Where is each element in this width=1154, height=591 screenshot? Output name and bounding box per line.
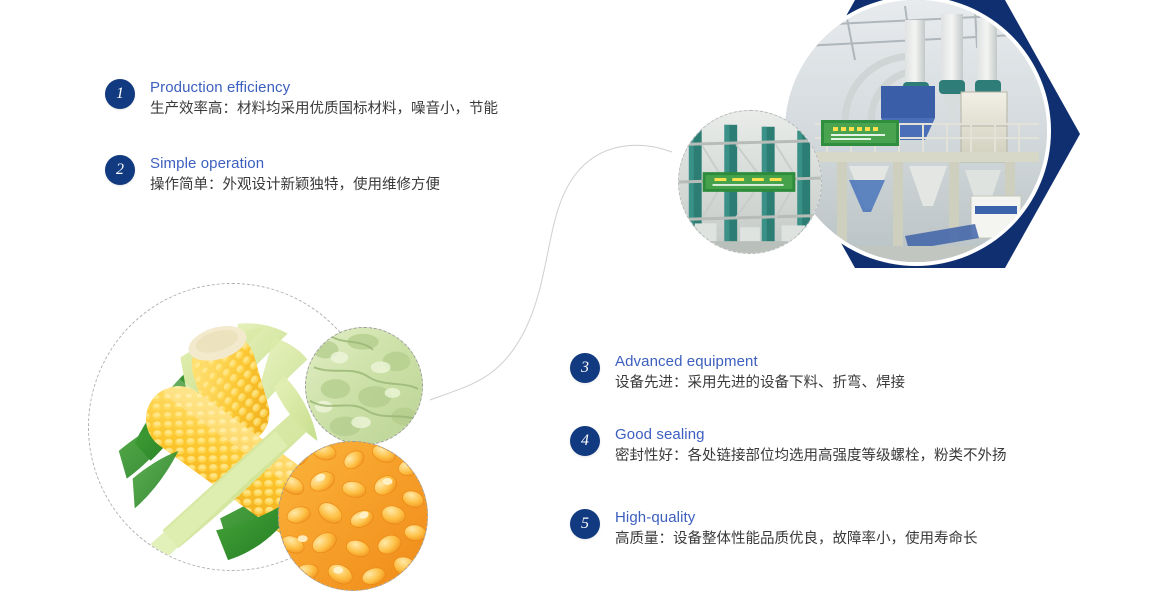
feature-text-3: Advanced equipment 设备先进：采用先进的设备下料、折弯、焊接 (615, 352, 905, 394)
feature-badge-1: 1 (105, 79, 135, 109)
feature-title-1: Production efficiency (150, 78, 498, 97)
feature-infographic: 1 Production efficiency 生产效率高：材料均采用优质国标材… (0, 0, 1154, 591)
feature-badge-3: 3 (570, 353, 600, 383)
hexagon-photo-group (660, 0, 1154, 292)
feature-text-1: Production efficiency 生产效率高：材料均采用优质国标材料，… (150, 78, 498, 120)
corn-kernels-photo (278, 441, 428, 591)
feature-desc-5: 高质量：设备整体性能品质优良，故障率小，使用寿命长 (615, 529, 978, 550)
feature-item-3[interactable]: 3 Advanced equipment 设备先进：采用先进的设备下料、折弯、焊… (570, 352, 905, 394)
feature-title-4: Good sealing (615, 425, 1007, 444)
feature-badge-5: 5 (570, 509, 600, 539)
feature-desc-2: 操作简单：外观设计新颖独特，使用维修方便 (150, 175, 440, 196)
feature-title-3: Advanced equipment (615, 352, 905, 371)
feature-title-2: Simple operation (150, 154, 440, 173)
corn-photo-group (88, 283, 488, 591)
corn-dough-texture-photo (305, 327, 423, 445)
feature-badge-2: 2 (105, 155, 135, 185)
feature-item-5[interactable]: 5 High-quality 高质量：设备整体性能品质优良，故障率小，使用寿命长 (570, 508, 978, 550)
feature-desc-3: 设备先进：采用先进的设备下料、折弯、焊接 (615, 373, 905, 394)
feature-text-4: Good sealing 密封性好：各处链接部位均选用高强度等级螺栓，粉类不外扬 (615, 425, 1007, 467)
feature-item-2[interactable]: 2 Simple operation 操作简单：外观设计新颖独特，使用维修方便 (105, 154, 440, 196)
feature-text-5: High-quality 高质量：设备整体性能品质优良，故障率小，使用寿命长 (615, 508, 978, 550)
grain-processing-towers-photo (678, 110, 822, 254)
feature-desc-1: 生产效率高：材料均采用优质国标材料，噪音小，节能 (150, 99, 498, 120)
feature-item-1[interactable]: 1 Production efficiency 生产效率高：材料均采用优质国标材… (105, 78, 498, 120)
feature-badge-4: 4 (570, 426, 600, 456)
feature-item-4[interactable]: 4 Good sealing 密封性好：各处链接部位均选用高强度等级螺栓，粉类不… (570, 425, 1007, 467)
flour-milling-machinery-photo (785, 0, 1047, 262)
feature-desc-4: 密封性好：各处链接部位均选用高强度等级螺栓，粉类不外扬 (615, 446, 1007, 467)
feature-title-5: High-quality (615, 508, 978, 527)
feature-text-2: Simple operation 操作简单：外观设计新颖独特，使用维修方便 (150, 154, 440, 196)
